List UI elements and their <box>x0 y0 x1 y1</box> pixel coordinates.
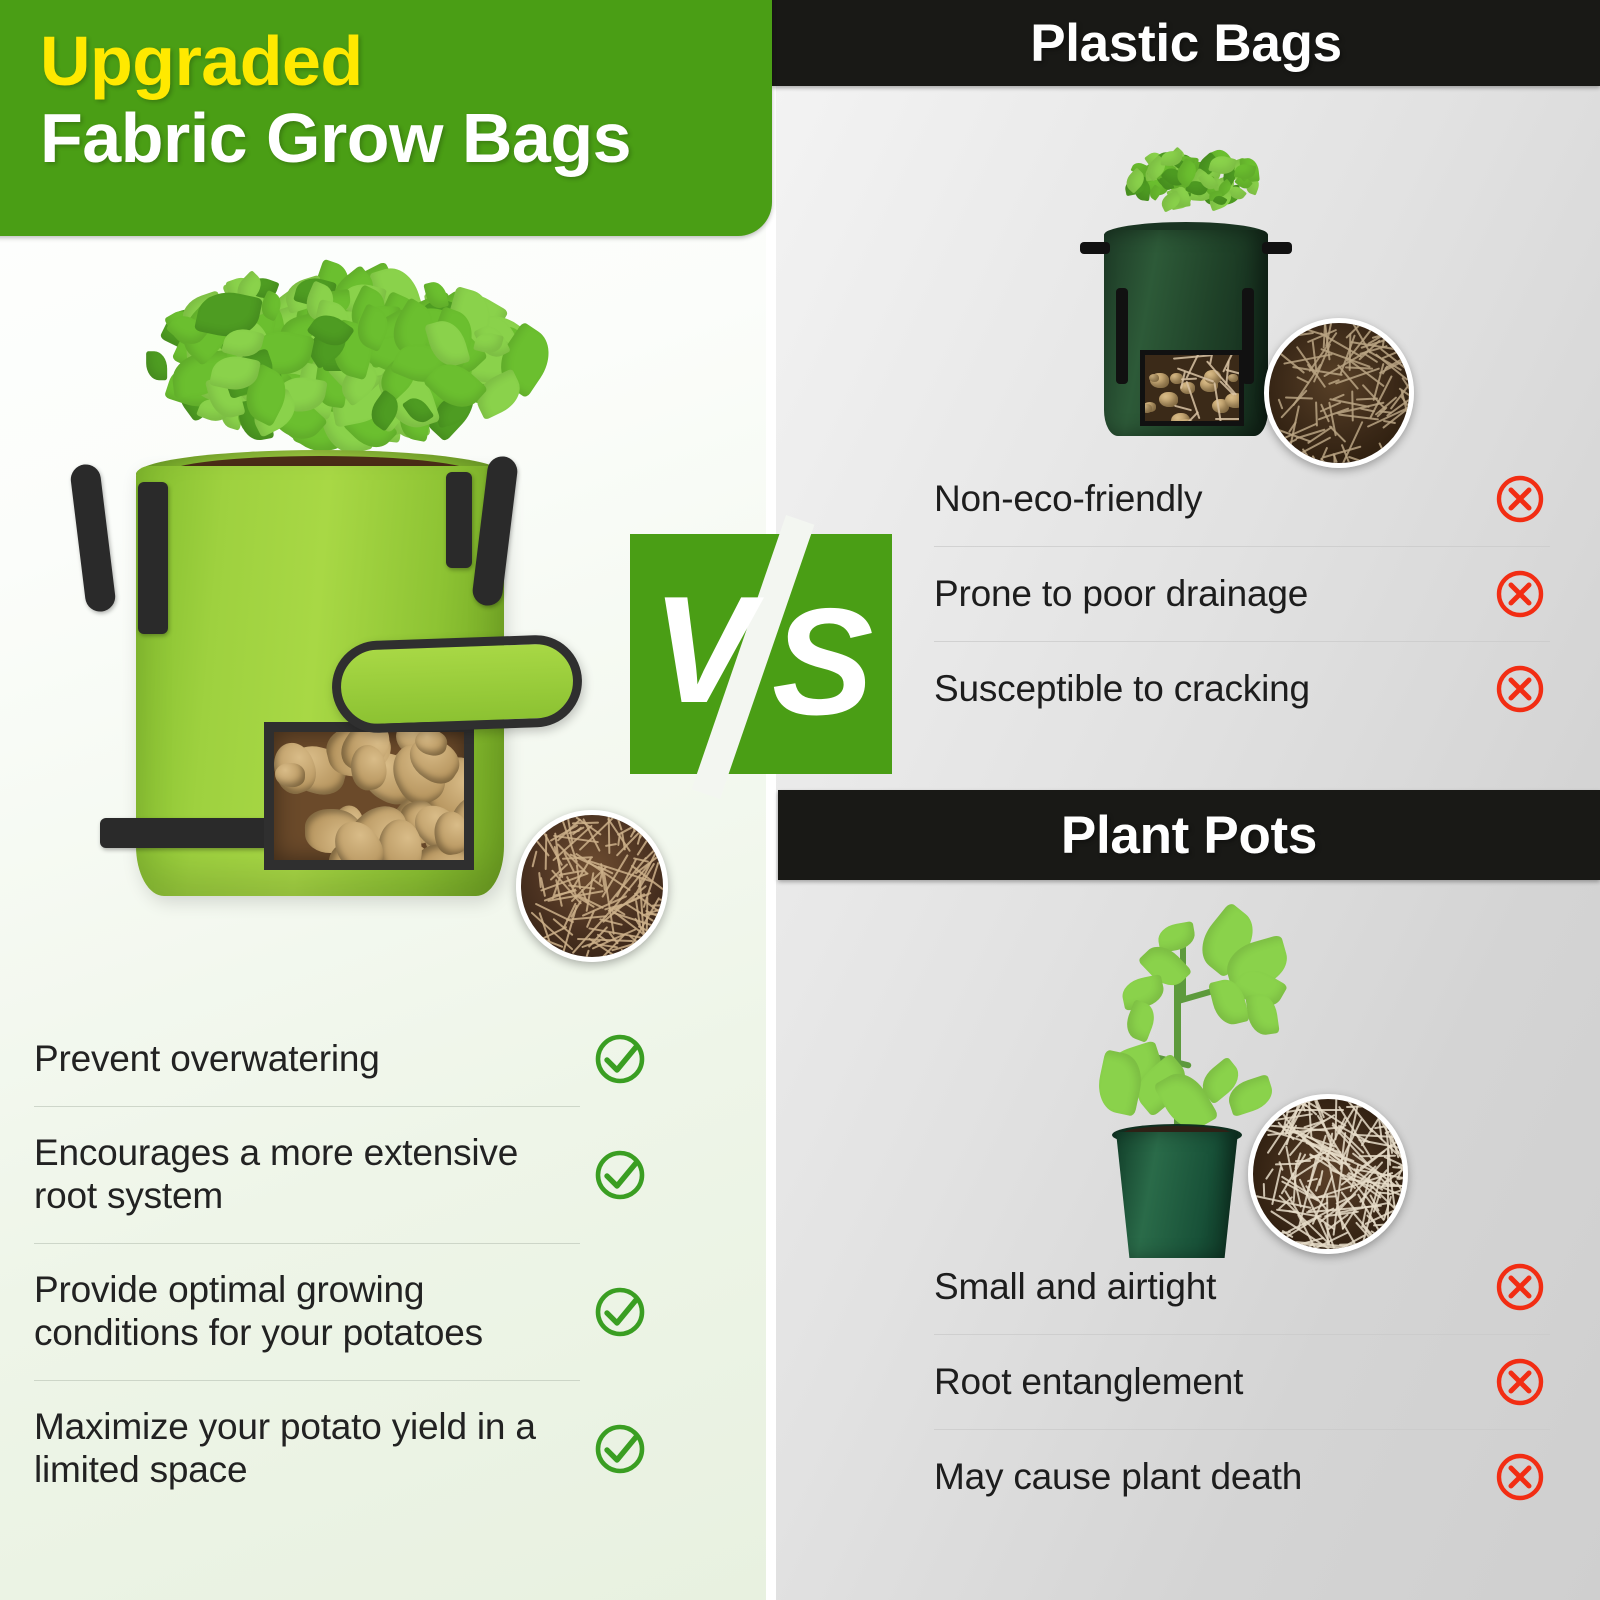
feature-row: Provide optimal growing conditions for y… <box>0 1244 700 1380</box>
feature-label: Prevent overwatering <box>34 1038 578 1081</box>
x-circle-icon <box>1492 661 1548 717</box>
feature-label: Non-eco-friendly <box>934 478 1478 521</box>
panel-divider <box>766 0 776 1600</box>
feature-row: Root entanglement <box>900 1335 1600 1429</box>
feature-label: Root entanglement <box>934 1361 1478 1404</box>
check-circle-icon <box>592 1284 648 1340</box>
plastic-bag-handle-right <box>1262 242 1292 254</box>
bag-bottom-strap <box>100 818 276 848</box>
bag-handle-left-strap <box>138 482 168 634</box>
plant-pots-banner: Plant Pots <box>778 790 1600 880</box>
plastic-bag-window <box>1140 350 1244 426</box>
root-bound-inset <box>1248 1094 1408 1254</box>
feature-label: Maximize your potato yield in a limited … <box>34 1406 578 1492</box>
feature-label: Small and airtight <box>934 1266 1478 1309</box>
infographic-canvas: Plastic Bags Plant Pots Upgraded Fabric … <box>0 0 1600 1600</box>
plant-pots-title: Plant Pots <box>1061 805 1317 866</box>
plastic-bag-strap-left <box>1116 288 1128 384</box>
bag-handle-right-strap <box>446 472 472 568</box>
plastic-bag-handle-left <box>1080 242 1110 254</box>
healthy-root-inset <box>516 810 668 962</box>
benefits-list: Prevent overwateringEncourages a more ex… <box>0 1012 700 1517</box>
feature-row: Non-eco-friendly <box>900 452 1600 546</box>
check-circle-icon <box>592 1031 648 1087</box>
check-circle-icon <box>592 1147 648 1203</box>
check-circle-icon <box>592 1421 648 1477</box>
plant-pot-image <box>1030 880 1450 1270</box>
bag-velcro-flap <box>330 634 583 735</box>
fabric-grow-bag-image <box>40 250 680 970</box>
feature-row: May cause plant death <box>900 1430 1600 1524</box>
vs-letter-v: V <box>652 574 747 726</box>
x-circle-icon <box>1492 566 1548 622</box>
feature-label: Susceptible to cracking <box>934 668 1478 711</box>
plastic-bag-drawbacks-list: Non-eco-friendlyProne to poor drainageSu… <box>900 452 1600 736</box>
poor-root-soil-inset <box>1264 318 1414 468</box>
bag-access-window <box>264 722 474 870</box>
plastic-bag-image <box>1040 120 1460 470</box>
plastic-bags-banner: Plastic Bags <box>772 0 1600 86</box>
plant-pot-drawbacks-list: Small and airtightRoot entanglementMay c… <box>900 1240 1600 1524</box>
plastic-bags-title: Plastic Bags <box>1030 13 1342 74</box>
feature-row: Small and airtight <box>900 1240 1600 1334</box>
vs-letter-s: S <box>772 586 867 738</box>
feature-label: Provide optimal growing conditions for y… <box>34 1269 578 1355</box>
feature-label: Prone to poor drainage <box>934 573 1478 616</box>
feature-row: Prevent overwatering <box>0 1012 700 1106</box>
x-circle-icon <box>1492 1449 1548 1505</box>
x-circle-icon <box>1492 471 1548 527</box>
feature-row: Encourages a more extensive root system <box>0 1107 700 1243</box>
feature-label: Encourages a more extensive root system <box>34 1132 578 1218</box>
feature-row: Prone to poor drainage <box>900 547 1600 641</box>
feature-label: May cause plant death <box>934 1456 1478 1499</box>
page-title-banner: Upgraded Fabric Grow Bags <box>0 0 772 236</box>
feature-row: Susceptible to cracking <box>900 642 1600 736</box>
vs-badge: V S <box>630 534 892 774</box>
x-circle-icon <box>1492 1354 1548 1410</box>
page-title-line-1: Upgraded <box>40 26 772 97</box>
feature-row: Maximize your potato yield in a limited … <box>0 1381 700 1517</box>
x-circle-icon <box>1492 1259 1548 1315</box>
page-title-line-2: Fabric Grow Bags <box>40 103 772 174</box>
bag-handle-left <box>69 463 117 614</box>
